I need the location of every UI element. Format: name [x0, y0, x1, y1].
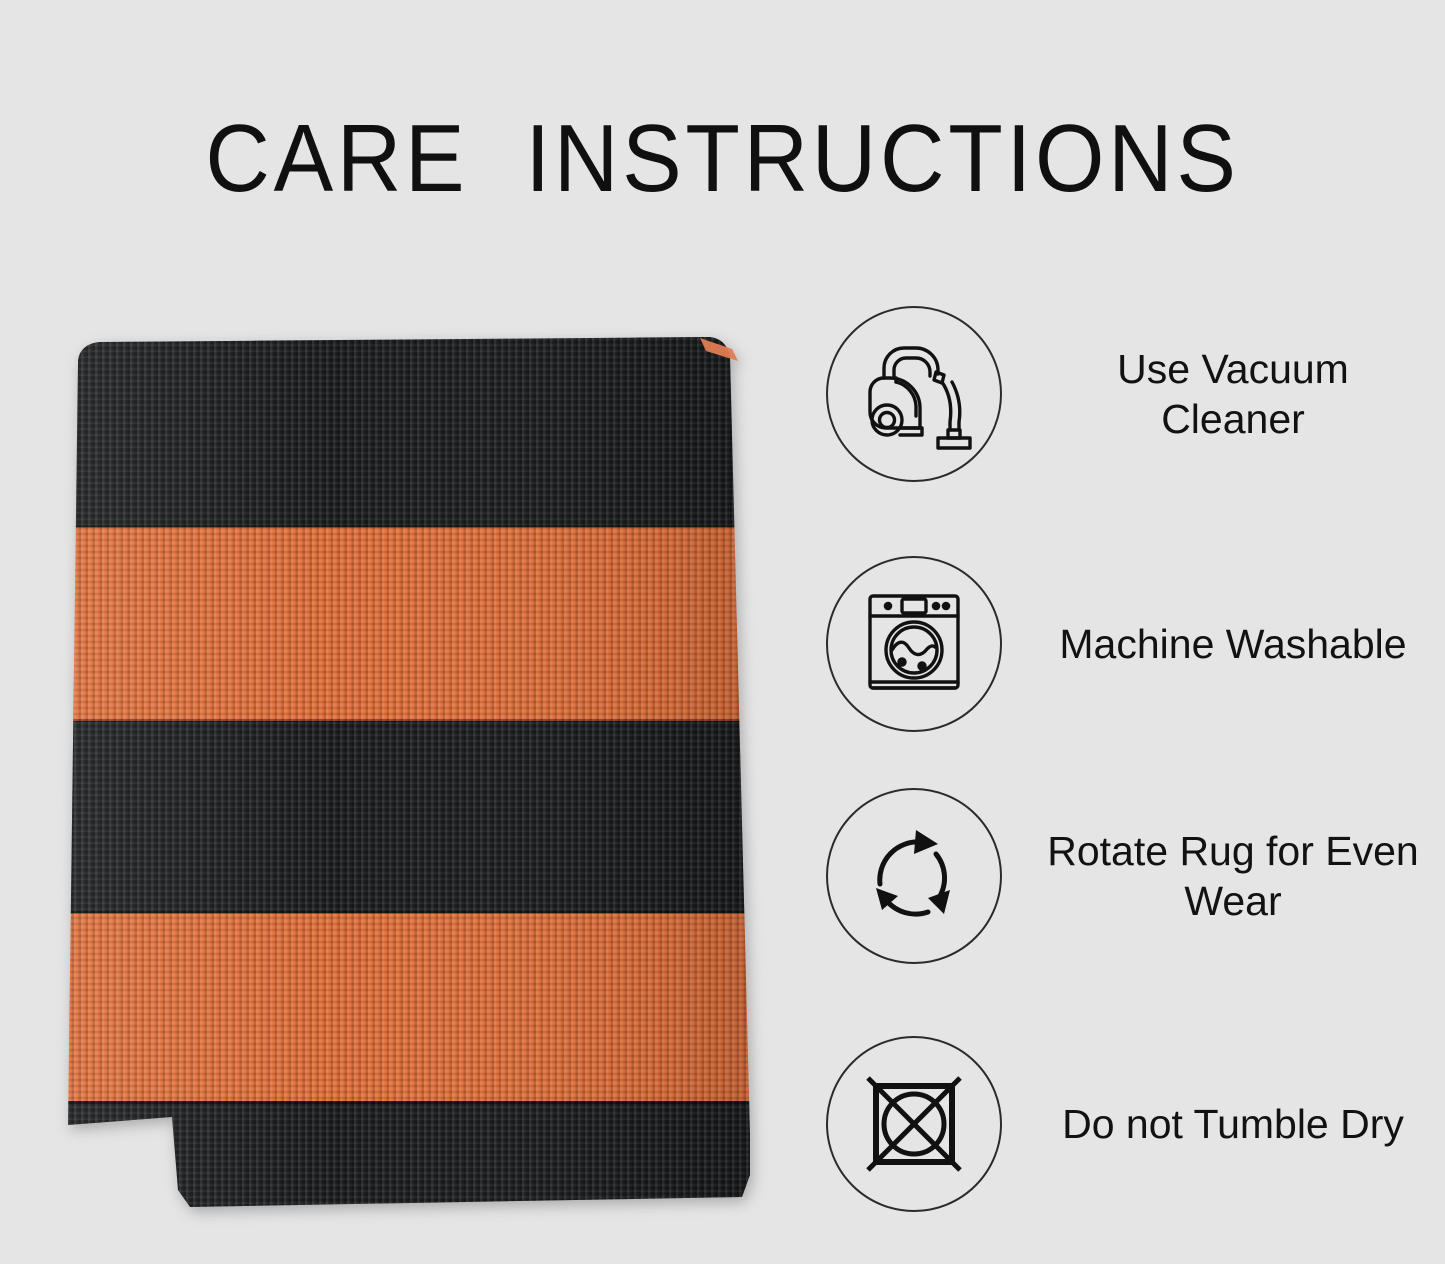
care-item-label: Rotate Rug for Even Wear: [1040, 826, 1426, 926]
care-item-machine-washable: Machine Washable: [826, 556, 1426, 732]
washing-machine-icon: [826, 556, 1002, 732]
page-title: CARE INSTRUCTIONS: [51, 104, 1395, 214]
rug-image: [60, 335, 780, 1215]
rotate-arrows-icon: [826, 788, 1002, 964]
care-item-do-not-tumble-dry: Do not Tumble Dry: [826, 1036, 1426, 1212]
care-instructions-poster: CARE INSTRUCTIONS: [0, 0, 1445, 1264]
care-item-rotate-rug: Rotate Rug for Even Wear: [826, 788, 1426, 964]
care-item-vacuum: Use Vacuum Cleaner: [826, 306, 1426, 482]
folded-striped-rug-illustration: [60, 335, 780, 1215]
care-item-label: Use Vacuum Cleaner: [1040, 344, 1426, 444]
care-item-label: Machine Washable: [1040, 619, 1426, 669]
care-item-label: Do not Tumble Dry: [1040, 1099, 1426, 1149]
vacuum-cleaner-icon: [826, 306, 1002, 482]
do-not-tumble-dry-icon: [826, 1036, 1002, 1212]
